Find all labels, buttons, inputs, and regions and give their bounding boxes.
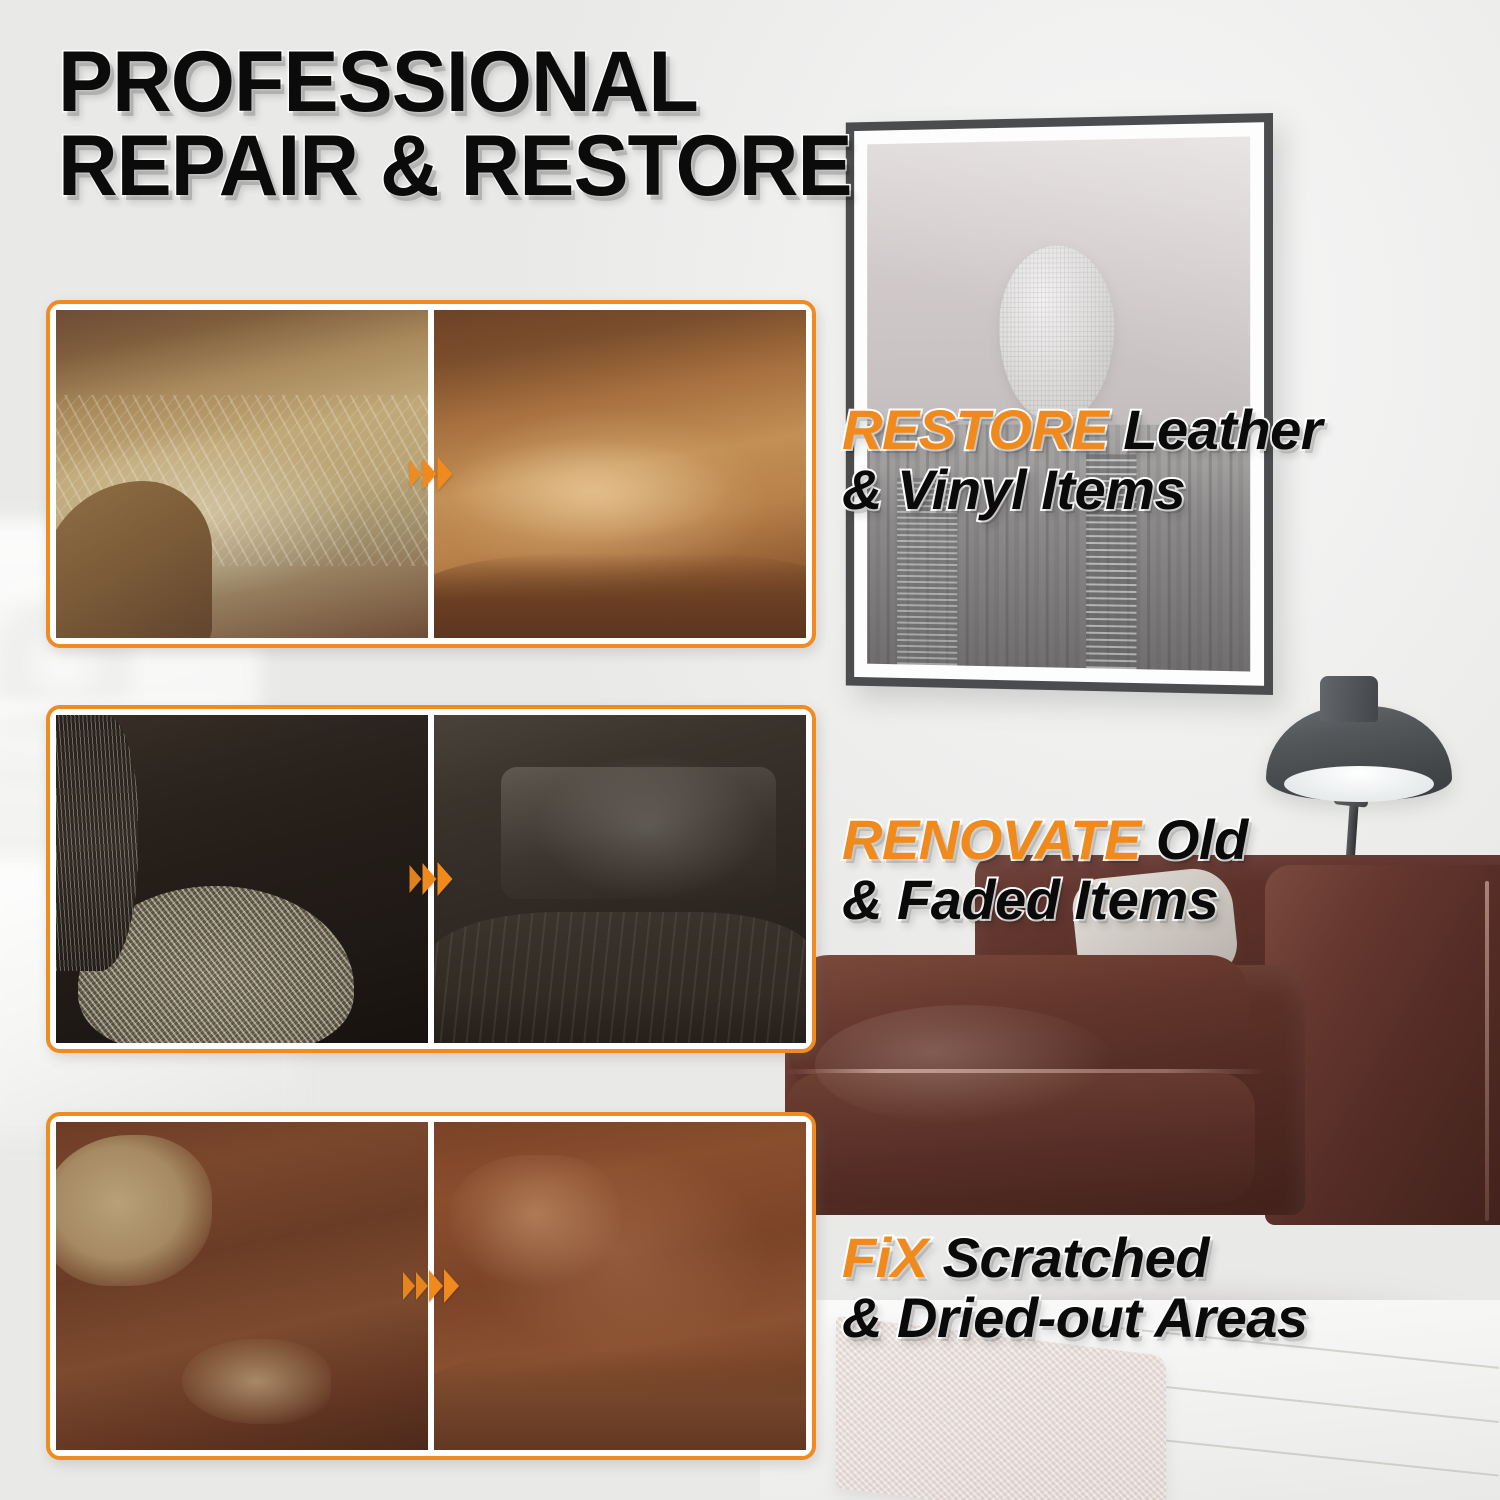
caption-renovate-line-2: & Faded Items [842,870,1248,930]
caption-fix-highlight: FiX [842,1226,928,1289]
cracked-dark-leather-armchair-photo [56,715,428,1043]
caption-fix: FiX Scratched & Dried-out Areas [842,1228,1308,1349]
before-image-fix [56,1122,428,1450]
lamp-cap [1320,676,1378,722]
headline-line-2: REPAIR & RESTORE [58,124,1191,208]
before-after-panel-renovate [46,705,816,1053]
before-after-panel-restore [46,300,816,648]
headline-line-1: PROFESSIONAL [58,40,1191,124]
before-after-panel-fix [46,1112,816,1460]
caption-restore-rest: Leather [1108,398,1322,461]
caption-fix-line-2: & Dried-out Areas [842,1288,1308,1348]
caption-renovate-line-1: RENOVATE Old [842,810,1248,870]
peeling-brown-leather-sofa-photo [56,1122,428,1450]
caption-fix-rest: Scratched [928,1226,1209,1289]
caption-restore-highlight: RESTORE [842,398,1108,461]
caption-restore-line-1: RESTORE Leather [842,400,1322,460]
caption-restore-line-2: & Vinyl Items [842,460,1322,520]
product-marketing-image: PROFESSIONAL REPAIR & RESTORE [0,0,1500,1500]
worn-tan-leather-sofa-photo [56,310,428,638]
lamp-inner-glow [1284,766,1434,802]
after-image-renovate [434,715,806,1043]
caption-renovate: RENOVATE Old & Faded Items [842,810,1248,931]
caption-fix-line-1: FiX Scratched [842,1228,1308,1288]
restored-caramel-leather-sofa-photo [434,310,806,638]
after-image-restore [434,310,806,638]
after-image-fix [434,1122,806,1450]
sofa-arm-seam [1485,881,1489,1221]
caption-renovate-highlight: RENOVATE [842,808,1141,871]
renovated-dark-leather-armchair-photo [434,715,806,1043]
page-title: PROFESSIONAL REPAIR & RESTORE [58,40,1191,209]
before-image-renovate [56,715,428,1043]
before-image-restore [56,310,428,638]
sofa-highlight [815,1005,1115,1125]
fixed-brown-leather-sofa-photo [434,1122,806,1450]
caption-renovate-rest: Old [1141,808,1248,871]
caption-restore: RESTORE Leather & Vinyl Items [842,400,1322,521]
